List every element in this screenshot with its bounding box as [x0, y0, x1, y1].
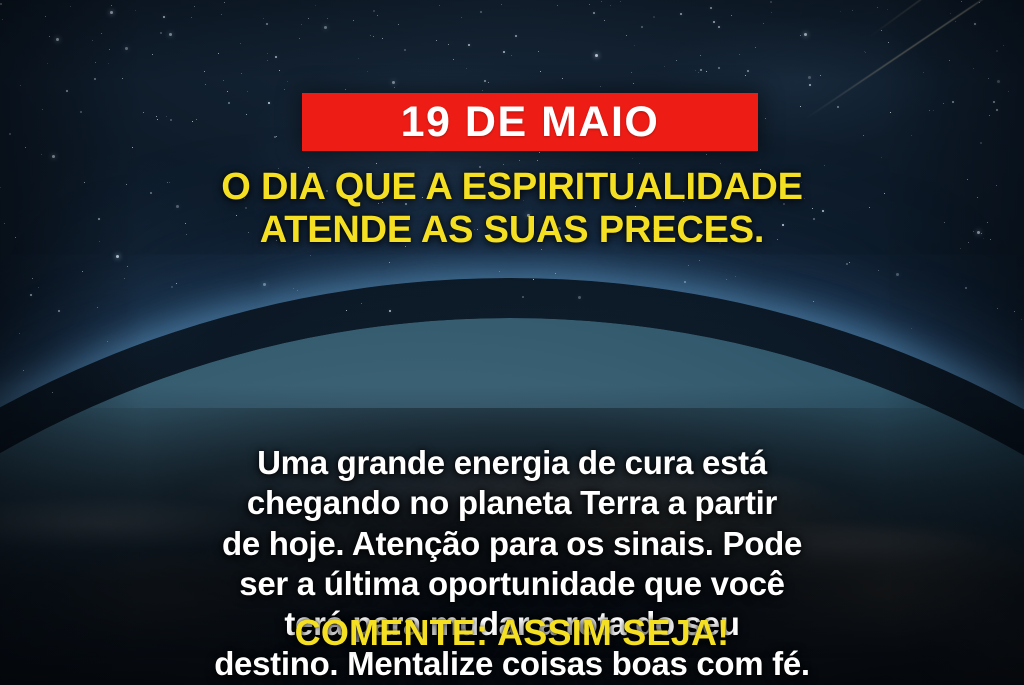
- date-banner-label: 19 DE MAIO: [401, 101, 660, 144]
- body-copy-line: Uma grande energia de cura está: [62, 443, 962, 483]
- headline-line: ATENDE AS SUAS PRECES.: [0, 209, 1024, 252]
- headline: O DIA QUE A ESPIRITUALIDADE ATENDE AS SU…: [0, 166, 1024, 251]
- call-to-action-label: COMENTE: ASSIM SEJA!: [295, 612, 730, 653]
- body-copy-line: chegando no planeta Terra a partir: [62, 483, 962, 523]
- body-copy-line: de hoje. Atenção para os sinais. Pode: [62, 524, 962, 564]
- date-banner: 19 DE MAIO: [302, 93, 758, 151]
- call-to-action: COMENTE: ASSIM SEJA!: [0, 613, 1024, 653]
- headline-line: O DIA QUE A ESPIRITUALIDADE: [0, 166, 1024, 209]
- poster-image: 19 DE MAIO O DIA QUE A ESPIRITUALIDADE A…: [0, 0, 1024, 685]
- body-copy-line: ser a última oportunidade que você: [62, 564, 962, 604]
